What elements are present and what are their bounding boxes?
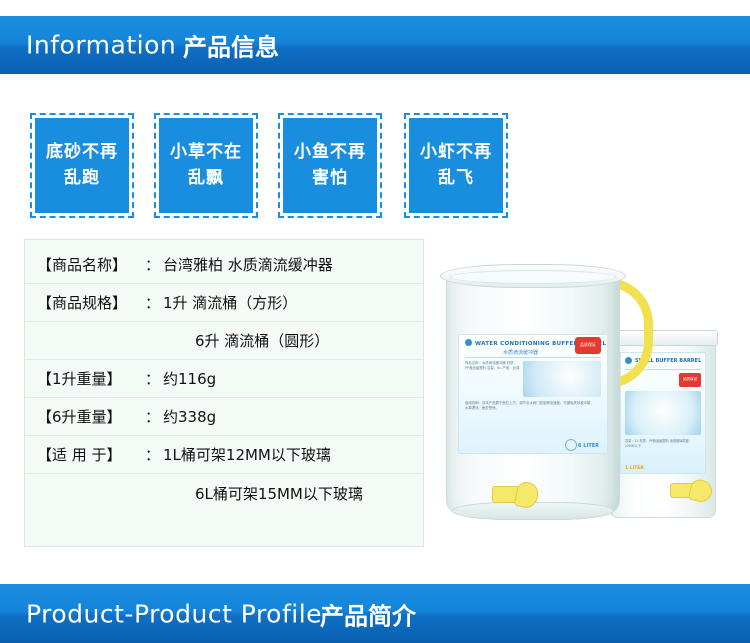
large-label-capacity-badge: 6 LITER — [578, 443, 599, 449]
small-tap-spout — [688, 478, 715, 505]
spec-colon-4: ： — [145, 406, 157, 427]
product-photo: SMALL BUFFER BARREL 品质保证 容量：1L 材质：PP食品级塑… — [424, 232, 740, 552]
product-profile-chinese-title: 产品简介 — [320, 596, 416, 631]
spec-row-product-size-cont: 6升 滴流桶（圆形） — [25, 322, 423, 360]
spec-label-weight-1l: 【1升重量】 — [25, 368, 145, 389]
feature-box-1-content: 底砂不再 乱跑 — [35, 118, 129, 213]
large-label-illustration — [523, 361, 601, 397]
spec-value-applicable-6l: 6L桶可架15MM以下玻璃 — [157, 483, 363, 504]
feature-box-3-content: 小鱼不再 害怕 — [283, 118, 377, 213]
small-label-description: 容量：1L 材质：PP食品级塑料 适用玻璃厚度：12MM以下 — [625, 439, 701, 449]
feature-box-2-line1: 小草不在 — [170, 140, 242, 166]
large-label-usage-text: 使用说明：将本产品置于鱼缸上方，调节出水阀门控制滴流速度，可避免底砂被冲散、水草… — [465, 401, 597, 412]
feature-box-2-line2: 乱飘 — [188, 166, 224, 192]
spec-label-product-size: 【商品规格】 — [25, 292, 145, 313]
large-label-circle-mark-icon — [565, 439, 577, 451]
large-label-divider — [465, 357, 601, 358]
spec-colon-0: ： — [145, 254, 157, 275]
large-label-subtitle: 水质滴流缓冲器 — [503, 349, 538, 356]
spec-row-product-size: 【商品规格】 ： 1升 滴流桶（方形） — [25, 284, 423, 322]
large-label-logo-icon — [465, 339, 472, 346]
large-label-description: 商品名称：水质滴流缓冲器 材质：PP食品级塑料 容量：6L 产地：台湾 — [465, 361, 521, 371]
feature-box-4-line2: 乱飞 — [438, 166, 474, 192]
product-profile-english-title: Product-Product Profile — [26, 599, 322, 628]
large-barrel-label: WATER CONDITIONING BUFFER BARREL 水质滴流缓冲器… — [458, 334, 608, 454]
large-buffer-barrel-image: WATER CONDITIONING BUFFER BARREL 水质滴流缓冲器… — [440, 254, 624, 519]
feature-box-4: 小虾不再 乱飞 — [404, 113, 508, 218]
information-banner-english-title: Information — [26, 31, 176, 60]
spec-colon-5: ： — [145, 444, 157, 465]
feature-box-group: 底砂不再 乱跑 小草不在 乱飘 小鱼不再 害怕 小虾不再 乱飞 — [30, 113, 720, 220]
spec-row-weight-6l: 【6升重量】 ： 约338g — [25, 398, 423, 436]
large-barrel-tap-icon — [492, 482, 536, 508]
feature-box-3-line2: 害怕 — [312, 166, 348, 192]
spec-value-weight-6l: 约338g — [157, 406, 216, 427]
feature-box-2: 小草不在 乱飘 — [154, 113, 258, 218]
spec-label-product-name: 【商品名称】 — [25, 254, 145, 275]
large-barrel-inner-rim — [450, 270, 616, 284]
spec-value-product-size-6l: 6升 滴流桶（圆形） — [157, 330, 329, 351]
small-barrel-tap-icon — [670, 480, 712, 502]
spec-value-product-name: 台湾雅柏 水质滴流缓冲器 — [157, 254, 333, 275]
feature-box-2-content: 小草不在 乱飘 — [159, 118, 253, 213]
spec-value-weight-1l: 约116g — [157, 368, 216, 389]
feature-box-4-line1: 小虾不再 — [420, 140, 492, 166]
spec-row-product-name: 【商品名称】 ： 台湾雅柏 水质滴流缓冲器 — [25, 246, 423, 284]
information-banner-chinese-title: 产品信息 — [183, 28, 279, 63]
feature-box-1: 底砂不再 乱跑 — [30, 113, 134, 218]
feature-box-3: 小鱼不再 害怕 — [278, 113, 382, 218]
small-label-illustration — [625, 391, 701, 435]
spec-label-applicable: 【适 用 于】 — [25, 444, 145, 465]
product-spec-panel: 【商品名称】 ： 台湾雅柏 水质滴流缓冲器 【商品规格】 ： 1升 滴流桶（方形… — [24, 239, 424, 547]
feature-box-4-content: 小虾不再 乱飞 — [409, 118, 503, 213]
feature-box-1-line2: 乱跑 — [64, 166, 100, 192]
spec-colon-1: ： — [145, 292, 157, 313]
large-label-seal-badge: 品质保证 — [575, 337, 601, 354]
spec-row-weight-1l: 【1升重量】 ： 约116g — [25, 360, 423, 398]
spec-colon-3: ： — [145, 368, 157, 389]
feature-box-3-line1: 小鱼不再 — [294, 140, 366, 166]
product-profile-banner: Product-Product Profile 产品简介 — [0, 584, 750, 643]
spec-value-product-size-1l: 1升 滴流桶（方形） — [157, 292, 297, 313]
small-label-seal-badge: 品质保证 — [679, 373, 701, 387]
spec-row-applicable: 【适 用 于】 ： 1L桶可架12MM以下玻璃 — [25, 436, 423, 474]
spec-label-weight-6l: 【6升重量】 — [25, 406, 145, 427]
information-banner: Information 产品信息 — [0, 16, 750, 74]
feature-box-1-line1: 底砂不再 — [46, 140, 118, 166]
spec-row-applicable-cont: 6L桶可架15MM以下玻璃 — [25, 474, 423, 512]
spec-value-applicable-1l: 1L桶可架12MM以下玻璃 — [157, 444, 331, 465]
small-label-capacity-badge: 1 LITER — [625, 466, 644, 471]
